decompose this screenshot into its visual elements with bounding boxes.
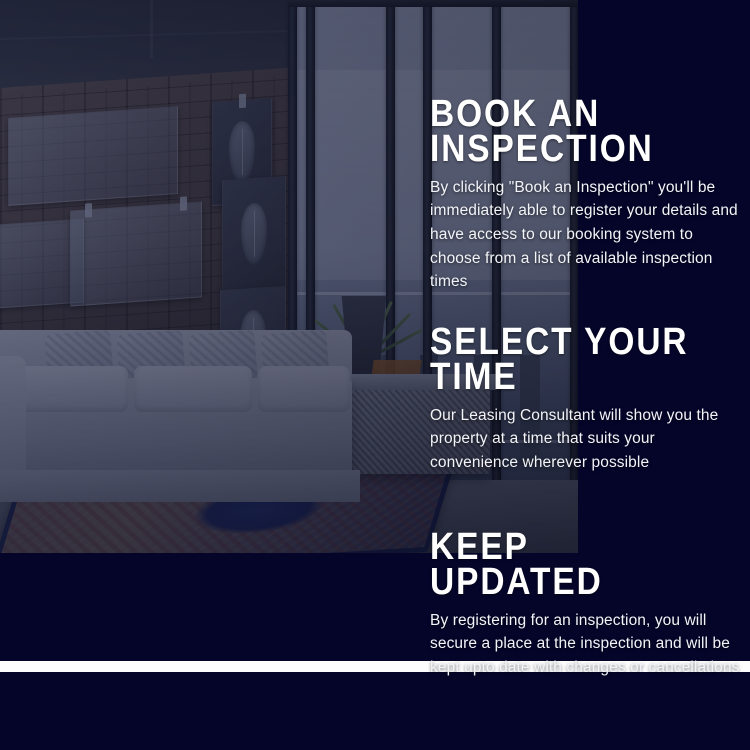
section-body-keep-updated: By registering for an inspection, you wi… xyxy=(430,609,746,680)
inspection-info-poster: BOOK AN INSPECTION By clicking "Book an … xyxy=(0,0,750,750)
section-heading-book-an-inspection: BOOK AN INSPECTION xyxy=(430,97,708,167)
section-keep-updated: KEEP UPDATED By registering for an inspe… xyxy=(430,530,746,680)
poster-content: BOOK AN INSPECTION By clicking "Book an … xyxy=(0,0,750,750)
section-body-select-your-time: Our Leasing Consultant will show you the… xyxy=(430,404,746,475)
section-heading-select-your-time: SELECT YOUR TIME xyxy=(430,325,708,395)
section-book-an-inspection: BOOK AN INSPECTION By clicking "Book an … xyxy=(430,97,746,294)
section-body-book-an-inspection: By clicking "Book an Inspection" you'll … xyxy=(430,176,746,294)
section-heading-keep-updated: KEEP UPDATED xyxy=(430,530,708,600)
section-select-your-time: SELECT YOUR TIME Our Leasing Consultant … xyxy=(430,325,746,475)
